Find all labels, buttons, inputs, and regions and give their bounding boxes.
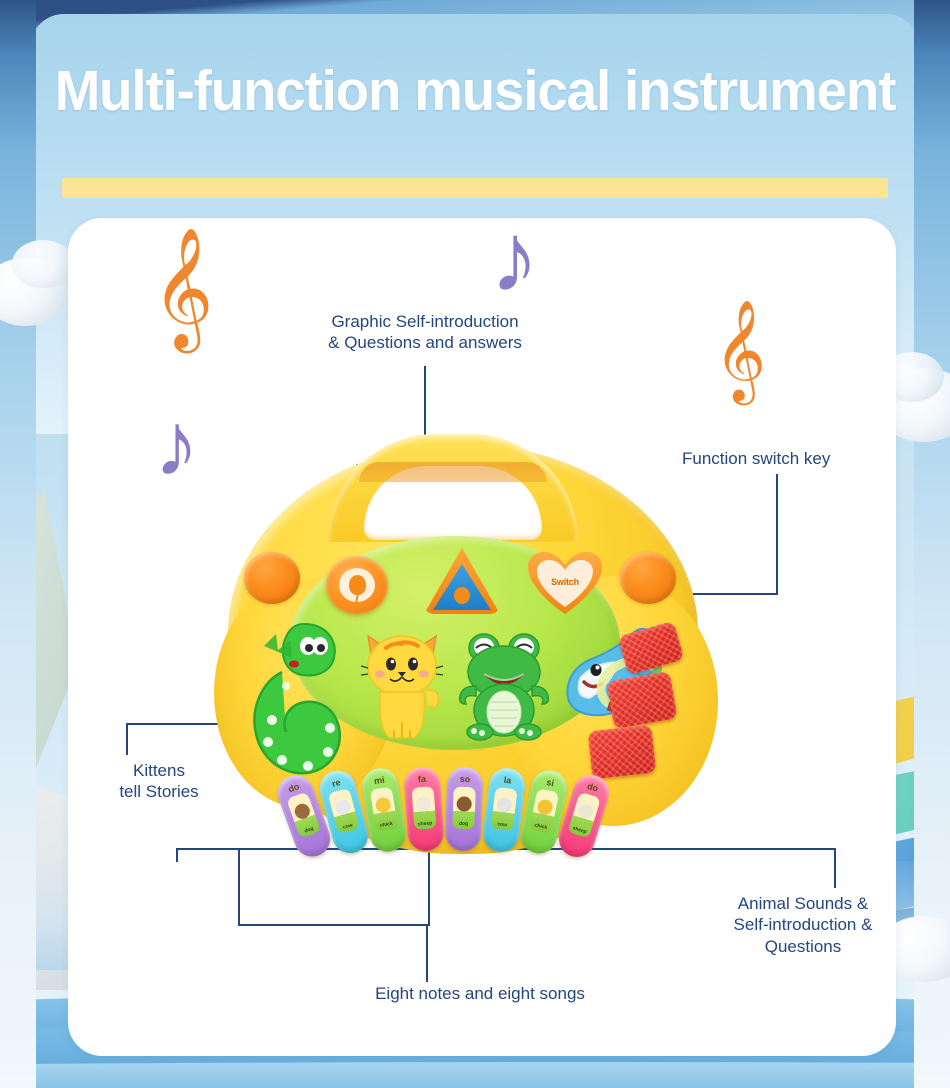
piano-key-animal-name: chick — [380, 821, 394, 829]
connector-line — [834, 848, 836, 888]
piano-key-animal-name: chick — [534, 822, 548, 831]
connector-line — [776, 474, 778, 594]
bird-icon — [454, 587, 470, 604]
infographic-page: Multi-function musical instrument 𝄞 ♪ 𝄞 … — [0, 0, 950, 1088]
piano-key-animal-name: sheep — [418, 820, 433, 827]
piano-key-note: re — [318, 774, 355, 793]
cat-figure[interactable] — [360, 626, 444, 742]
piano-key-note: la — [489, 773, 526, 787]
piano-key-picture: sheep — [411, 786, 436, 829]
piano-key-picture: chick — [529, 788, 559, 834]
toy-handle-opening — [364, 466, 542, 540]
speaker-knob-left[interactable] — [244, 552, 300, 604]
label-animal-sounds: Animal Sounds & Self-introduction & Ques… — [698, 893, 896, 957]
switch-button-label: Switch — [551, 577, 579, 587]
piano-key-animal-name: dog — [459, 821, 468, 827]
piano-key-picture: cow — [328, 788, 360, 834]
toy-musical-instrument: Switch — [208, 428, 718, 878]
page-title-block: Multi-function musical instrument — [0, 62, 950, 122]
background-edge-left — [0, 0, 36, 1088]
speaker-knob-right[interactable] — [620, 552, 676, 604]
piano-key-note: fa — [404, 773, 441, 785]
piano-key-note: so — [447, 773, 483, 784]
decorative-wave-3 — [0, 1062, 950, 1088]
label-eight-notes: Eight notes and eight songs — [310, 983, 650, 1004]
content-panel: 𝄞 ♪ 𝄞 ♪ — [68, 218, 896, 1056]
frog-figure[interactable] — [458, 628, 552, 742]
piano-keys: do dog re cow mi — [286, 764, 616, 860]
balloon-button[interactable] — [326, 556, 388, 614]
eighth-note-icon: ♪ — [154, 400, 199, 490]
piano-key-picture: dog — [286, 792, 321, 839]
piano-key-picture: chick — [370, 787, 398, 832]
piano-key-animal-name: cow — [342, 822, 353, 830]
piano-key-picture: sheep — [568, 792, 601, 839]
cloud-icon — [12, 240, 74, 288]
piano-key-note: si — [532, 774, 569, 791]
switch-button[interactable]: Switch — [528, 552, 602, 616]
connector-line — [426, 924, 428, 982]
connector-line — [126, 723, 128, 755]
label-kittens-tell-stories: Kittens tell Stories — [84, 760, 234, 803]
piano-key[interactable]: so dog — [445, 766, 484, 851]
piano-key-picture: dog — [452, 787, 475, 830]
piano-key-animal-name: cow — [497, 821, 507, 828]
piano-key-picture: cow — [491, 787, 518, 831]
treble-clef-icon: 𝄞 — [152, 236, 213, 340]
dinosaur-figure[interactable] — [242, 616, 350, 784]
piano-key-animal-name: dog — [304, 826, 315, 835]
piano-key-note: mi — [361, 773, 398, 789]
balloon-icon — [339, 568, 375, 602]
page-title: Multi-function musical instrument — [19, 62, 931, 122]
eighth-note-icon: ♪ — [490, 218, 539, 306]
label-graphic-self-introduction: Graphic Self-introduction & Questions an… — [300, 311, 550, 354]
connector-line — [238, 924, 428, 926]
connector-line — [176, 848, 178, 862]
piano-key-animal-name: sheep — [572, 825, 588, 835]
piano-key[interactable]: la cow — [481, 766, 527, 854]
piano-key[interactable]: fa sheep — [403, 766, 445, 852]
treble-clef-icon: 𝄞 — [714, 306, 766, 394]
label-function-switch-key: Function switch key — [682, 448, 882, 469]
title-underline-bar — [62, 178, 888, 198]
balloon-shape — [349, 575, 366, 595]
